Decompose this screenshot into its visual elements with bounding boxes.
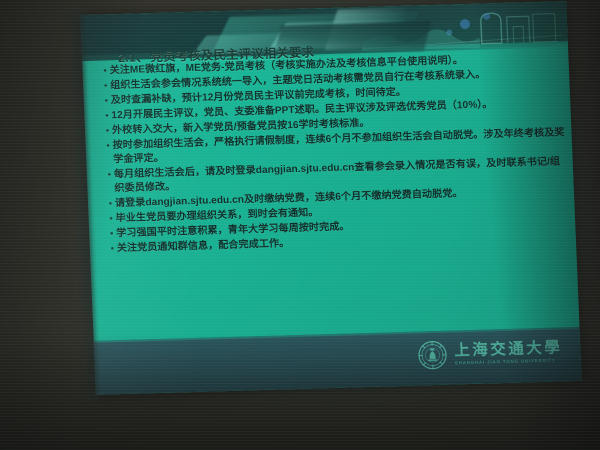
sjtu-wordmark: 上海交通大學 SHANGHAI JIAO TONG UNIVERSITY xyxy=(454,340,563,365)
presentation-slide: 2.1、党员考核及民主评议相关要求 • 关注ME微红旗，ME党务-党员考核（考核… xyxy=(80,1,581,395)
photo-frame: 2.1、党员考核及民主评议相关要求 • 关注ME微红旗，ME党务-党员考核（考核… xyxy=(0,0,600,450)
slide-bullet-list: • 关注ME微红旗，ME党务-党员考核（考核实施办法及考核信息平台使用说明）。 … xyxy=(100,51,570,257)
projection-screen: 2.1、党员考核及民主评议相关要求 • 关注ME微红旗，ME党务-党员考核（考核… xyxy=(80,1,581,395)
campus-skyline-icon xyxy=(360,5,562,51)
sjtu-name-cn: 上海交通大學 xyxy=(454,340,563,359)
slide-title-number: 2.1、 xyxy=(118,50,149,65)
sjtu-seal-icon xyxy=(417,340,448,371)
sjtu-name-en: SHANGHAI JIAO TONG UNIVERSITY xyxy=(455,358,563,366)
sjtu-logo: 上海交通大學 SHANGHAI JIAO TONG UNIVERSITY xyxy=(417,336,563,370)
